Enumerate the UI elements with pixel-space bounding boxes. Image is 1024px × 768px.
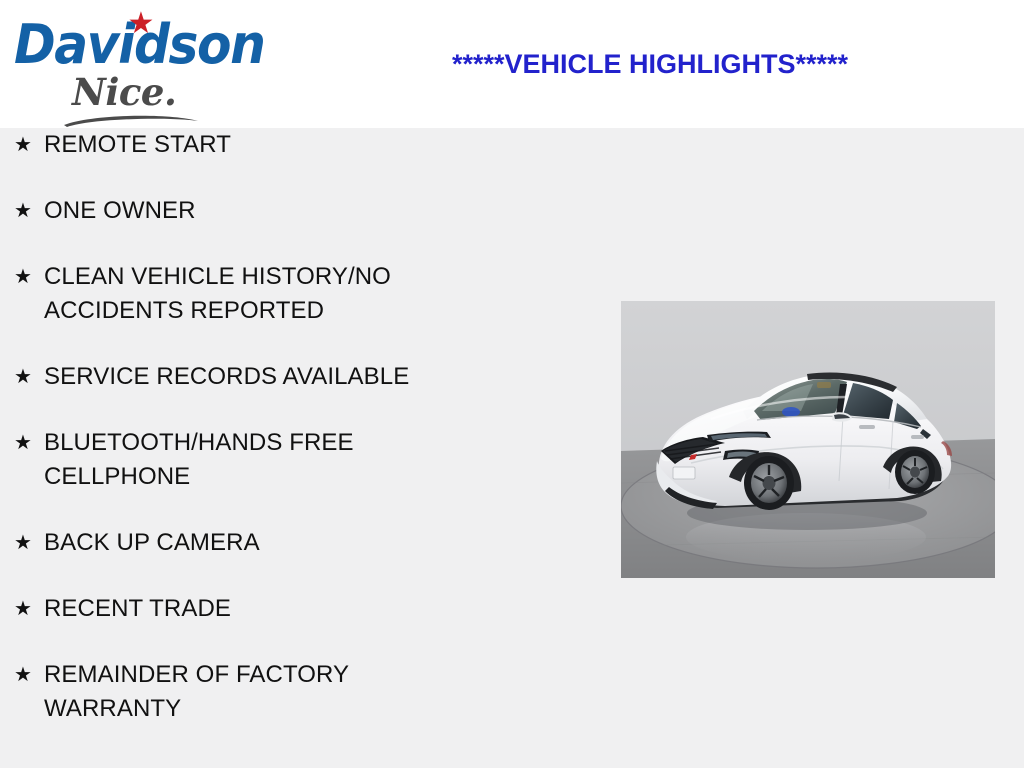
highlight-label: RECENT TRADE [44, 592, 484, 626]
page-title: *****VEHICLE HIGHLIGHTS***** [330, 48, 970, 80]
highlight-label: REMOTE START [44, 128, 484, 162]
star-bullet-icon: ★ [14, 592, 44, 626]
highlight-label: REMAINDER OF FACTORY WARRANTY [44, 658, 484, 726]
list-item: ★ SERVICE RECORDS AVAILABLE [0, 360, 600, 394]
vehicle-highlights-page: Davidson ★ Nice. *****VEHICLE HIGHLIGHTS… [0, 0, 1024, 768]
highlight-label: BACK UP CAMERA [44, 526, 484, 560]
star-bullet-icon: ★ [14, 194, 44, 228]
red-star-icon: ★ [127, 10, 155, 38]
list-item: ★ BACK UP CAMERA [0, 526, 600, 560]
list-item: ★ BLUETOOTH/HANDS FREE CELLPHONE [0, 426, 600, 494]
list-item: ★ CLEAN VEHICLE HISTORY/NO ACCIDENTS REP… [0, 260, 600, 328]
highlight-label: SERVICE RECORDS AVAILABLE [44, 360, 484, 394]
list-item: ★ ONE OWNER [0, 194, 600, 228]
vehicle-highlights-list: ★ REMOTE START ★ ONE OWNER ★ CLEAN VEHIC… [0, 128, 600, 758]
dealer-logo[interactable]: Davidson ★ Nice. [14, 6, 276, 124]
vehicle-photo[interactable] [621, 301, 995, 578]
star-bullet-icon: ★ [14, 360, 44, 394]
star-bullet-icon: ★ [14, 426, 44, 460]
star-bullet-icon: ★ [14, 128, 44, 162]
page-header: Davidson ★ Nice. *****VEHICLE HIGHLIGHTS… [0, 0, 1024, 128]
highlight-label: CLEAN VEHICLE HISTORY/NO ACCIDENTS REPOR… [44, 260, 484, 328]
dealer-logo-location-text: Nice. [72, 74, 176, 111]
star-bullet-icon: ★ [14, 658, 44, 692]
star-bullet-icon: ★ [14, 526, 44, 560]
highlight-label: BLUETOOTH/HANDS FREE CELLPHONE [44, 426, 484, 494]
logo-swoosh-icon [62, 112, 202, 128]
page-body: ★ REMOTE START ★ ONE OWNER ★ CLEAN VEHIC… [0, 128, 1024, 768]
highlight-label: ONE OWNER [44, 194, 484, 228]
list-item: ★ REMAINDER OF FACTORY WARRANTY [0, 658, 600, 726]
list-item: ★ RECENT TRADE [0, 592, 600, 626]
star-bullet-icon: ★ [14, 260, 44, 294]
list-item: ★ REMOTE START [0, 128, 600, 162]
